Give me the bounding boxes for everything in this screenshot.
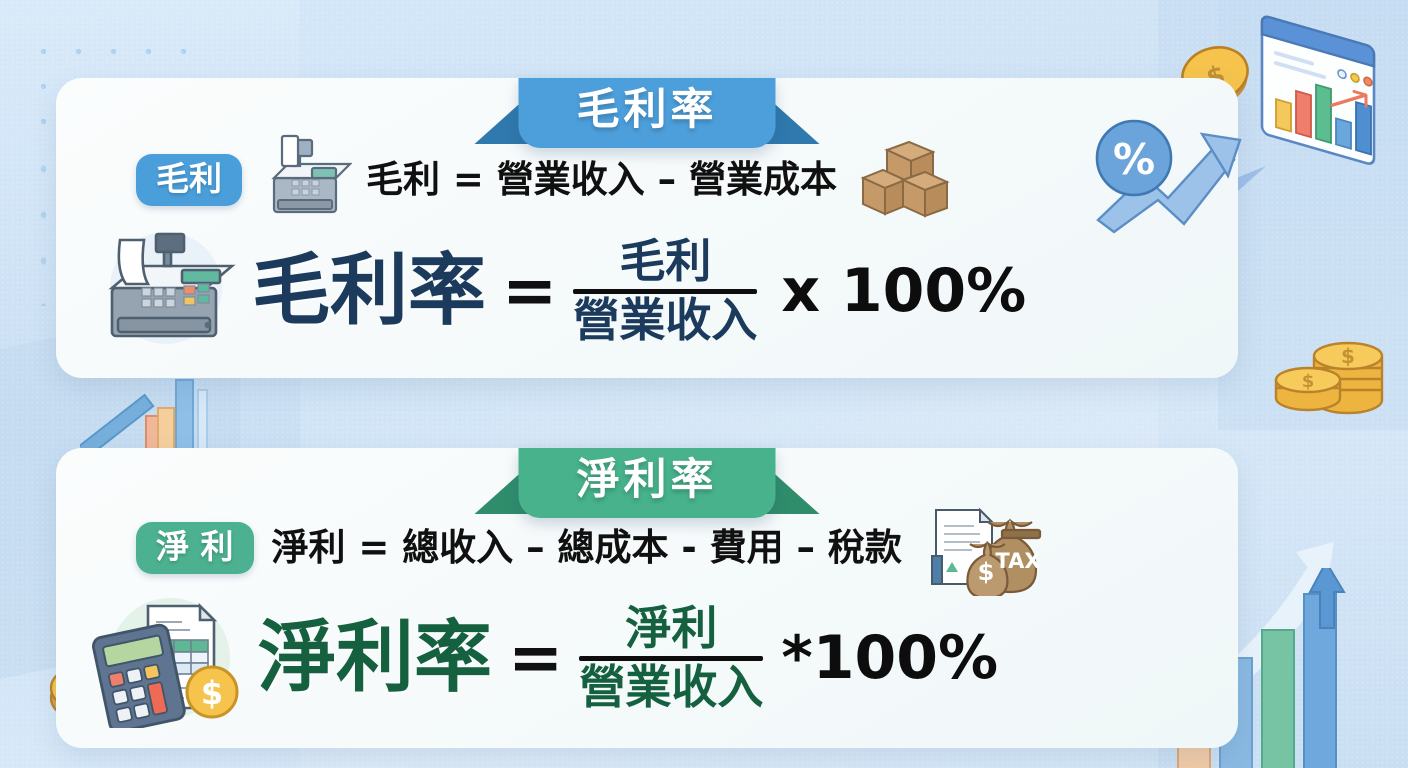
- net-formula-left: 淨利率: [258, 619, 492, 697]
- gross-formula-tail: x 100%: [781, 261, 1026, 321]
- calculator-invoice-icon: $: [86, 588, 242, 728]
- gross-profit-pill: 毛利: [136, 154, 242, 207]
- net-formula-fraction: 淨利 營業收入: [579, 604, 763, 712]
- gross-profit-pill-label: 毛利: [156, 160, 222, 198]
- net-definition-text: 淨利 = 總收入 – 總成本 - 費用 – 稅款: [272, 528, 902, 569]
- net-profit-pill: 淨 利: [136, 522, 254, 575]
- tax-money-bags-icon: $ TAX: [922, 500, 1042, 596]
- gross-margin-ribbon-label: 毛利率: [577, 87, 718, 134]
- svg-text:$: $: [1302, 371, 1315, 392]
- cash-register-small-icon: [256, 134, 352, 226]
- gross-formula-equals: =: [502, 258, 557, 324]
- net-formula-row: $ 淨利率 = 淨利 營業收入 *100%: [56, 588, 1238, 728]
- net-formula-equals: =: [508, 625, 563, 691]
- net-formula-denominator: 營業收入: [579, 661, 763, 713]
- coin-stack-icon: $ $: [1272, 326, 1398, 422]
- cash-register-icon: [86, 226, 236, 356]
- svg-text:%: %: [1113, 135, 1155, 184]
- svg-text:$: $: [201, 674, 223, 712]
- gross-formula-row: 毛利率 = 毛利 營業收入 x 100%: [56, 226, 1238, 356]
- net-formula-tail: *100%: [781, 628, 998, 688]
- net-formula-numerator: 淨利: [625, 604, 717, 656]
- svg-text:$: $: [978, 558, 995, 586]
- gross-formula-fraction: 毛利 營業收入: [573, 237, 757, 345]
- gross-formula-denominator: 營業收入: [573, 294, 757, 346]
- gross-formula-numerator: 毛利: [619, 237, 711, 289]
- gross-definition-text: 毛利 = 營業收入 – 營業成本: [366, 160, 837, 201]
- net-profit-pill-label: 淨 利: [156, 528, 234, 566]
- svg-text:$: $: [1341, 344, 1355, 368]
- net-margin-ribbon-label: 淨利率: [577, 457, 718, 504]
- gross-formula-left: 毛利率: [252, 252, 486, 330]
- gross-definition-row: 毛利 毛利 = 營業收入 – 營業成本: [56, 134, 1238, 226]
- svg-text:TAX: TAX: [995, 549, 1040, 573]
- cardboard-boxes-icon: [857, 136, 951, 224]
- gross-margin-card: 毛利率 毛利 毛利 = 營業收入 – 營業成本: [56, 78, 1238, 378]
- net-definition-row: 淨 利 淨利 = 總收入 – 總成本 - 費用 – 稅款 $ TAX: [56, 500, 1238, 596]
- percent-arrow-icon: %: [1084, 114, 1244, 234]
- net-margin-card: 淨利率 淨 利 淨利 = 總收入 – 總成本 - 費用 – 稅款: [56, 448, 1238, 748]
